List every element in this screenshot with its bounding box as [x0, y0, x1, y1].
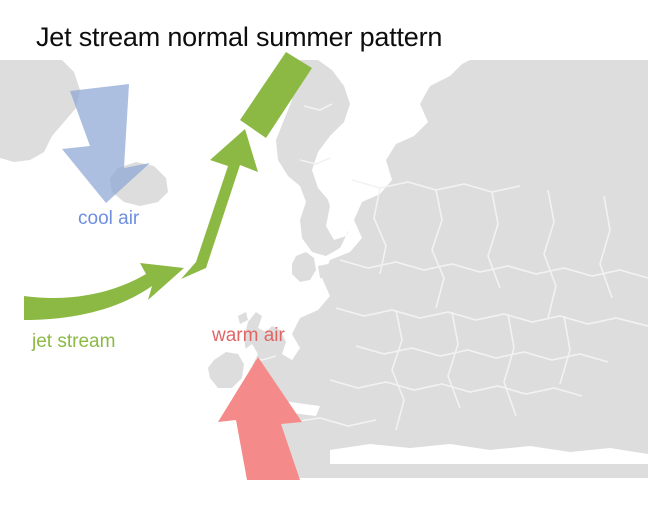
jet-stream-curved-arrow: [24, 263, 184, 320]
slide-canvas: Jet stream normal summer pattern: [0, 0, 648, 521]
label-cool-air: cool air: [78, 208, 139, 230]
annotation-arrow-layer: [0, 0, 648, 521]
jet-stream-diagonal-arrow: [181, 129, 258, 279]
jet-stream-bar-northeast: [240, 52, 312, 138]
warm-air-arrow: [218, 357, 302, 480]
cool-air-arrow: [62, 84, 150, 203]
label-warm-air: warm air: [212, 325, 285, 347]
label-jet-stream: jet stream: [32, 331, 115, 353]
